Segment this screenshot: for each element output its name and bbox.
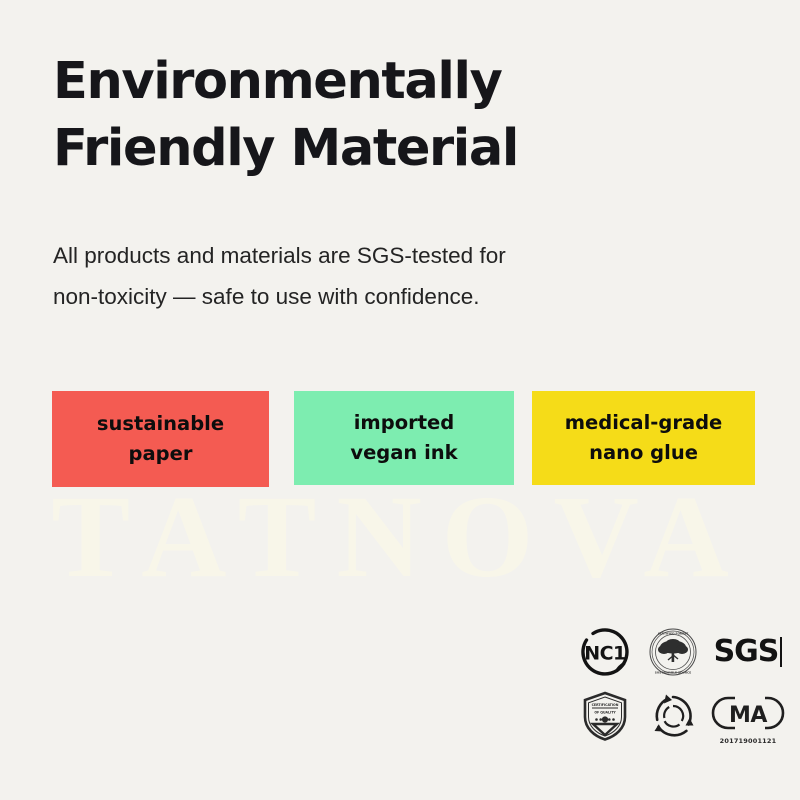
page-title: Environmentally Friendly Material (53, 48, 713, 183)
material-tag-sustainable-paper: sustainable paper (52, 391, 269, 487)
material-tag-line-1: imported (354, 408, 454, 438)
material-tag-imported-vegan-ink: imported vegan ink (294, 391, 514, 485)
page-title-line-2: Friendly Material (53, 115, 713, 182)
certification-badge-grid: NC1 CERTIFIED FOREST (574, 622, 786, 746)
material-tag-line-2: vegan ink (350, 438, 457, 468)
svg-text:CERTIFICATION: CERTIFICATION (592, 703, 619, 707)
sgs-certification-icon: SGS (710, 622, 786, 682)
fsc-forest-tree-icon: CERTIFIED FOREST SUSTAINABLE SOURCE (642, 622, 704, 682)
material-tag-row: sustainable paper imported vegan ink med… (52, 391, 755, 491)
material-tag-line-2: paper (129, 439, 193, 469)
material-tag-medical-grade-nano-glue: medical-grade nano glue (532, 391, 755, 485)
page-title-line-1: Environmentally (53, 48, 713, 115)
poster-canvas: TATNOVA Environmentally Friendly Materia… (0, 0, 800, 800)
brand-watermark: TATNOVA (0, 478, 800, 596)
description-line-2: non-toxicity — safe to use with confiden… (53, 277, 693, 318)
description-text: All products and materials are SGS-teste… (53, 236, 693, 318)
cma-certification-code: 201719001121 (710, 737, 786, 745)
svg-text:NC1: NC1 (584, 643, 626, 665)
svg-text:SUSTAINABLE SOURCE: SUSTAINABLE SOURCE (655, 671, 691, 675)
sgs-wordmark: SGS (714, 637, 783, 667)
description-line-1: All products and materials are SGS-teste… (53, 236, 693, 277)
quality-shield-icon: CERTIFICATION OF QUALITY (574, 686, 636, 746)
svg-text:MA: MA (729, 703, 767, 728)
cma-certification-icon: MA 201719001121 (710, 686, 786, 746)
svg-text:OF QUALITY: OF QUALITY (594, 711, 616, 715)
material-tag-line-1: medical-grade (565, 408, 723, 438)
material-tag-line-2: nano glue (589, 438, 698, 468)
svg-text:CERTIFIED FOREST: CERTIFIED FOREST (658, 631, 688, 635)
nc1-certification-icon: NC1 (574, 622, 636, 682)
material-tag-line-1: sustainable (97, 409, 224, 439)
recycling-arrows-icon (642, 686, 704, 746)
